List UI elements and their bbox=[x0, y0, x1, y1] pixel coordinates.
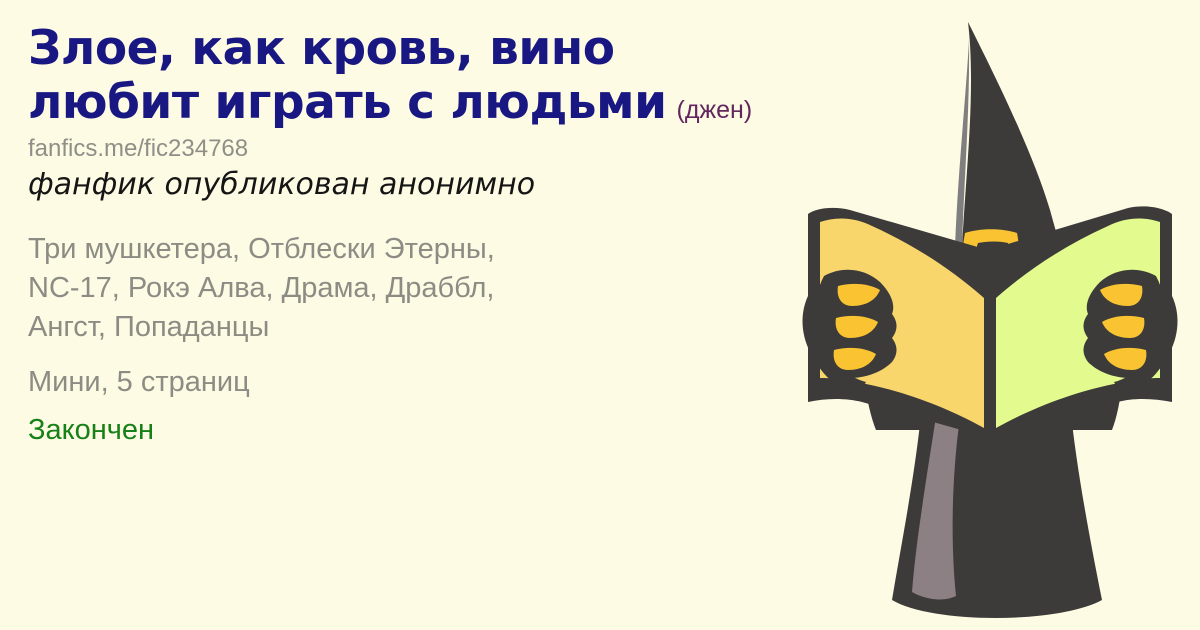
tags-line-3: Ангст, Попаданцы bbox=[28, 308, 768, 347]
fanfic-text-column: Злое, как кровь, вино любит играть с люд… bbox=[28, 22, 818, 449]
tags-line-2: NC-17, Рокэ Алва, Драма, Драббл, bbox=[28, 269, 768, 308]
genre-label: (джен) bbox=[677, 96, 753, 124]
page-title-line-2: любит играть с людьми(джен) bbox=[28, 76, 818, 130]
witch-hat-icon bbox=[955, 22, 1062, 255]
page-title-line-1: Злое, как кровь, вино bbox=[28, 22, 818, 76]
source-url[interactable]: fanfics.me/fic234768 bbox=[28, 136, 818, 162]
witch-reading-book-illustration bbox=[780, 0, 1200, 630]
page-title-text-1: Злое, как кровь, вино bbox=[28, 21, 615, 76]
page-title-text-2: любит играть с людьми bbox=[28, 75, 667, 130]
witch-robe-icon bbox=[892, 404, 1102, 618]
tags-line-1: Три мушкетера, Отблески Этерны, bbox=[28, 230, 768, 269]
fandom-tags-block: Три мушкетера, Отблески Этерны, NC-17, Р… bbox=[28, 230, 768, 347]
author-line: фанфик опубликован анонимно bbox=[28, 168, 818, 203]
status-badge: Закончен bbox=[28, 412, 818, 450]
fanfic-preview-card: Злое, как кровь, вино любит играть с люд… bbox=[0, 0, 1200, 630]
size-info: Мини, 5 страниц bbox=[28, 363, 818, 402]
